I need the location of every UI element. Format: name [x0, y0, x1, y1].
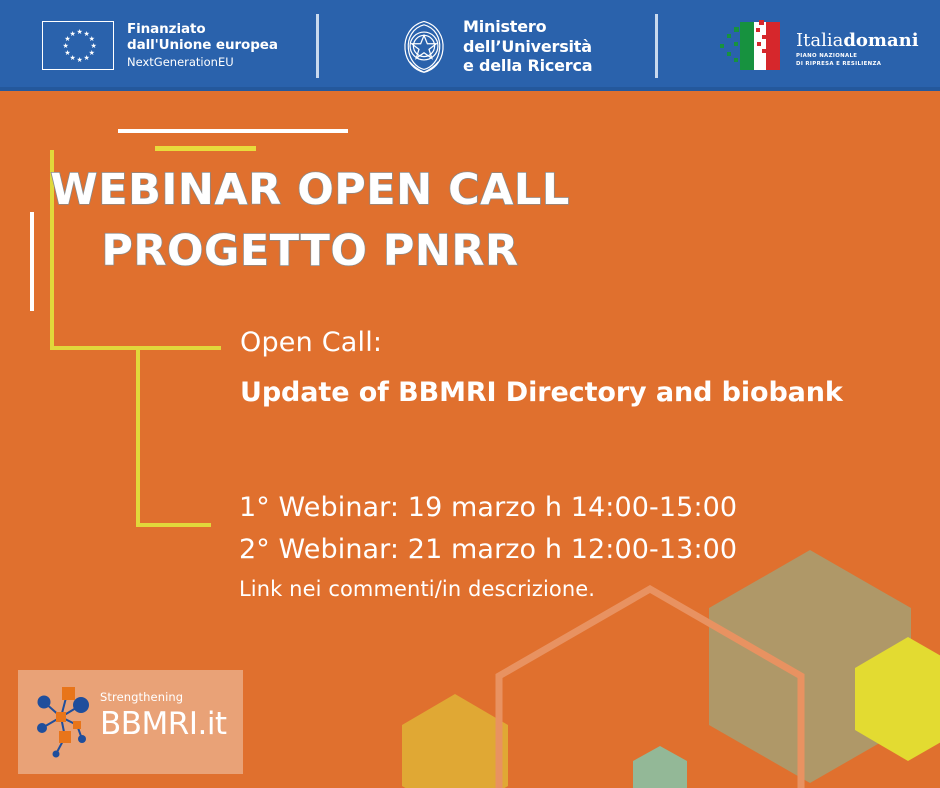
eu-line-2: dall'Unione europea	[127, 38, 278, 54]
decor-bracket-lower-horizontal	[136, 523, 211, 527]
title-line-2: PROGETTO PNRR	[0, 221, 620, 282]
bbmri-logo-panel: Strengthening BBMRI.it	[18, 670, 243, 774]
amber-hexagon	[402, 694, 508, 788]
decor-bracket-lower-vertical	[136, 350, 140, 527]
mur-line-2: dell’Università	[463, 37, 592, 57]
eu-line-1: Finanziato	[127, 22, 278, 38]
open-call-subject: Update of BBMRI Directory and biobank	[240, 376, 843, 410]
mur-line-3: e della Ricerca	[463, 56, 592, 76]
poster-canvas: WEBINAR OPEN CALL PROGETTO PNRR Open Cal…	[0, 0, 940, 788]
decor-rule-white-top	[118, 129, 348, 133]
eu-funding-text: Finanziato dall'Unione europea NextGener…	[127, 22, 278, 69]
page-title: WEBINAR OPEN CALL PROGETTO PNRR	[0, 160, 620, 282]
eu-star-icon: ★	[64, 51, 69, 56]
bbmri-name: BBMRI.it	[100, 708, 227, 741]
header-bottom-edge	[0, 87, 940, 91]
open-call-label: Open Call:	[240, 326, 843, 360]
decor-rule-yellow-top	[155, 146, 256, 151]
italiadomani-word: Italiadomani	[796, 32, 919, 50]
webinar-1-line: 1° Webinar: 19 marzo h 14:00-15:00	[239, 487, 737, 529]
italiadomani-sub-line-2: DI RIPRESA E RESILIENZA	[796, 61, 919, 68]
eu-star-icon: ★	[70, 32, 75, 37]
italian-republic-emblem-icon	[396, 17, 452, 75]
funding-header-bar: ★★★★★★★★★★★★ Finanziato dall'Unione euro…	[0, 0, 940, 91]
italiadomani-word-light: Italia	[796, 30, 843, 51]
webinar-schedule: 1° Webinar: 19 marzo h 14:00-15:00 2° We…	[239, 487, 737, 603]
mur-ministry-text: Ministero dell’Università e della Ricerc…	[463, 17, 592, 76]
bbmri-tagline: Strengthening	[100, 692, 227, 704]
eu-star-icon: ★	[63, 44, 68, 49]
italiadomani-logo: Italiadomani PIANO NAZIONALE DI RIPRESA …	[718, 18, 919, 74]
italiadomani-wordmark: Italiadomani PIANO NAZIONALE DI RIPRESA …	[796, 32, 919, 74]
open-call-block: Open Call: Update of BBMRI Directory and…	[240, 326, 843, 410]
header-divider-1	[316, 14, 319, 78]
webinar-2-line: 2° Webinar: 21 marzo h 12:00-13:00	[239, 529, 737, 571]
header-divider-2	[655, 14, 658, 78]
italiadomani-word-bold: domani	[843, 30, 918, 51]
schedule-note: Link nei commenti/in descrizione.	[239, 576, 737, 603]
italiadomani-subtitle: PIANO NAZIONALE DI RIPRESA E RESILIENZA	[796, 53, 919, 68]
mur-ministry-logo: Ministero dell’Università e della Ricerc…	[396, 17, 592, 76]
bbmri-network-nodes-icon	[32, 680, 98, 764]
italian-flag-pixel-icon	[718, 18, 790, 74]
italiadomani-sub-line-1: PIANO NAZIONALE	[796, 53, 919, 60]
eu-star-icon: ★	[64, 37, 69, 42]
small-green-hexagon	[633, 746, 687, 788]
eu-funding-logo: ★★★★★★★★★★★★ Finanziato dall'Unione euro…	[42, 21, 278, 70]
bbmri-logo-text: Strengthening BBMRI.it	[100, 692, 227, 740]
eu-line-3: NextGenerationEU	[127, 56, 278, 70]
eu-flag-stars-icon: ★★★★★★★★★★★★	[42, 21, 114, 70]
eu-star-icon: ★	[84, 56, 89, 61]
eu-star-icon: ★	[77, 58, 82, 63]
mur-line-1: Ministero	[463, 17, 592, 37]
eu-star-icon: ★	[77, 30, 82, 35]
title-line-1: WEBINAR OPEN CALL	[0, 160, 620, 221]
